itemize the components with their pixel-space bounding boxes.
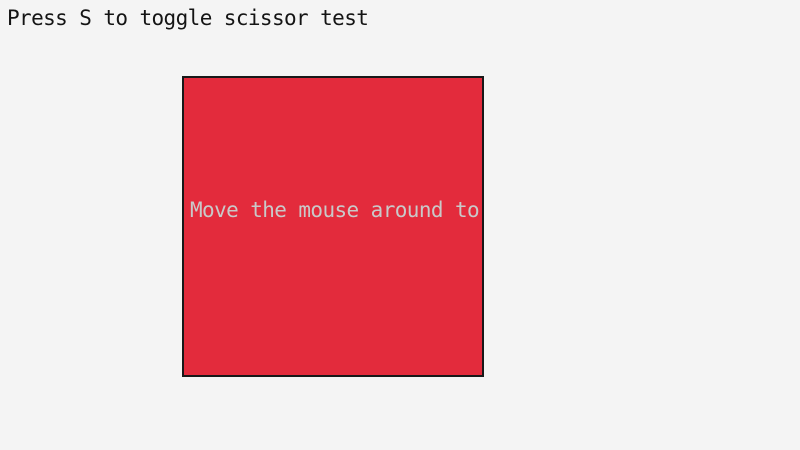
scissor-test-canvas[interactable]: Press S to toggle scissor test Move the …: [0, 0, 800, 450]
scissor-toggle-hint: Press S to toggle scissor test: [7, 7, 368, 29]
scissor-rectangle[interactable]: Move the mouse around to r: [182, 76, 484, 377]
scissor-clipped-label: Move the mouse around to r: [190, 199, 484, 221]
